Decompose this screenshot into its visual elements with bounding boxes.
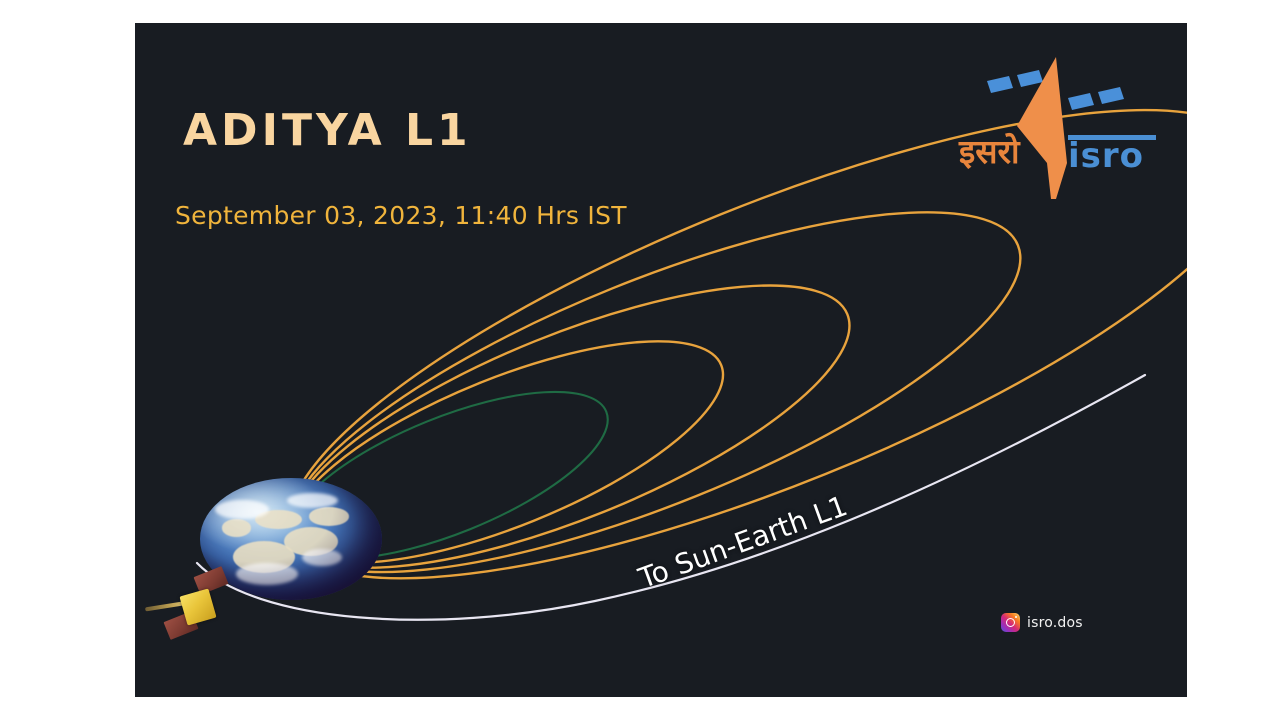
page-title: ADITYA L1	[183, 105, 472, 156]
screenshot-root: To Sun-Earth L1 ADITYA L1 September 03, …	[0, 0, 1280, 720]
aditya-l1-spacecraft	[143, 568, 239, 644]
instagram-icon[interactable]	[1001, 613, 1020, 632]
cloud-band-northeast	[287, 493, 338, 509]
mission-timestamp: September 03, 2023, 11:40 Hrs IST	[175, 201, 627, 230]
isro-logo: इसरो isro	[955, 51, 1160, 199]
cloud-band-south	[236, 563, 298, 585]
logo-devanagari-text: इसरो	[958, 132, 1021, 171]
presentation-slide: To Sun-Earth L1 ADITYA L1 September 03, …	[135, 23, 1187, 697]
landmass-west-africa	[222, 519, 251, 536]
instagram-handle-group[interactable]: isro.dos	[1001, 613, 1083, 632]
cloud-band-east	[302, 549, 342, 566]
instagram-handle-text: isro.dos	[1027, 615, 1083, 631]
logo-solar-panel-left	[987, 70, 1043, 93]
logo-solar-panel-right	[1068, 87, 1124, 110]
landmass-asia	[309, 507, 349, 525]
logo-latin-text: isro	[1068, 136, 1144, 176]
